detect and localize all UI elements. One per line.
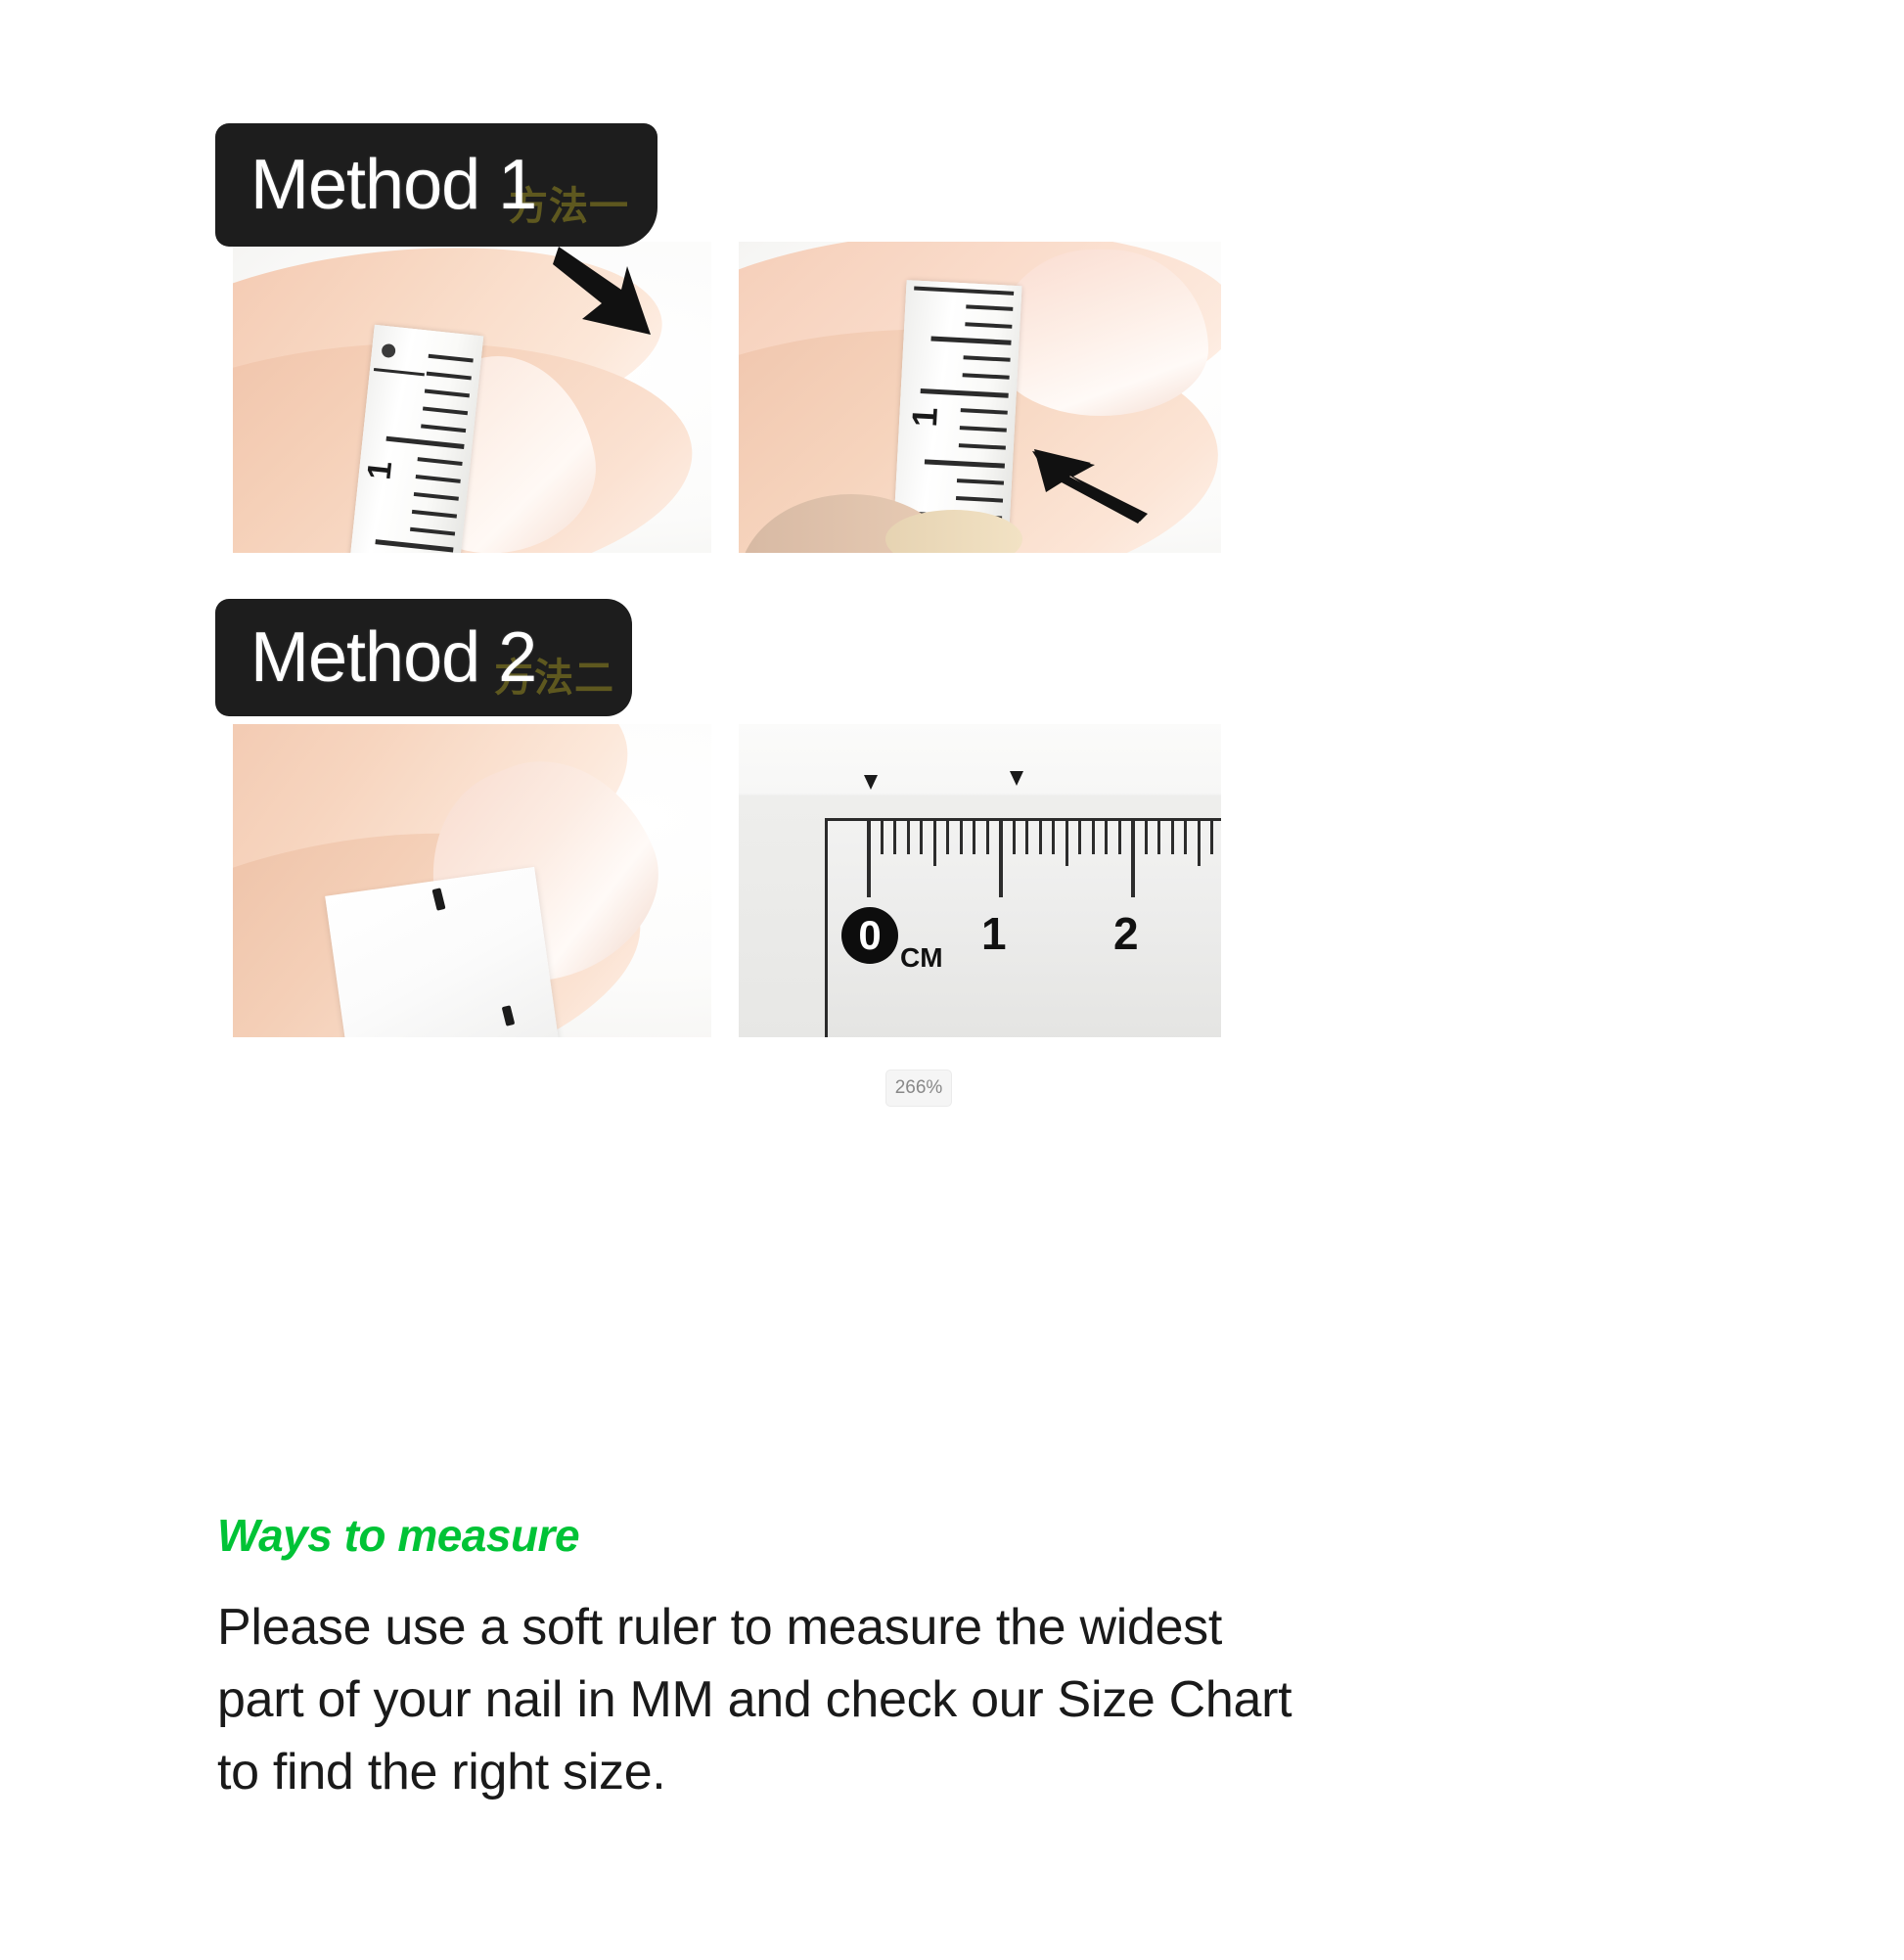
ruler-notch-right <box>1010 771 1023 786</box>
section-heading: Ways to measure <box>217 1509 579 1562</box>
paper-strip <box>325 867 560 1037</box>
ruler-tick <box>960 821 963 854</box>
measuring-tape: 1 <box>350 325 483 553</box>
ruler-tick <box>933 821 936 866</box>
ruler-tick <box>1025 821 1028 854</box>
page-root: 1 1 2 <box>0 0 1904 1960</box>
ruler-unit-label: CM <box>900 942 943 974</box>
ruler-body: 0 CM 1 2 3 <box>825 818 1221 1037</box>
ruler-tick <box>881 821 884 854</box>
ruler-tick <box>1052 821 1055 854</box>
ruler-tick <box>1078 821 1081 854</box>
ruler-tick <box>920 821 923 854</box>
ruler-tick <box>893 821 896 854</box>
ruler-tick <box>907 821 910 854</box>
ruler-tick <box>1171 821 1174 854</box>
method-2-image-1 <box>233 724 711 1037</box>
method-2-label: Method 2 <box>250 622 536 693</box>
method-2-badge: 方法二 Method 2 <box>215 599 632 716</box>
ruler-tick <box>1118 821 1121 854</box>
ruler-notch-left <box>864 775 878 790</box>
zoom-level-value: 266% <box>895 1077 943 1099</box>
tape-digit-1: 1 <box>360 459 400 481</box>
ruler-zero-badge: 0 <box>841 907 898 964</box>
ruler-tick <box>1039 821 1042 854</box>
method-1-image-1: 1 <box>233 242 711 553</box>
ruler-tick <box>1065 821 1068 866</box>
tape-digit-1: 1 <box>904 406 946 428</box>
ruler-tick <box>999 821 1003 897</box>
ruler-tick <box>1184 821 1187 854</box>
method-1-label: Method 1 <box>250 150 536 220</box>
ruler-tick <box>1210 821 1213 854</box>
ruler-tick <box>973 821 975 854</box>
ruler-tick <box>946 821 949 854</box>
zoom-level-badge[interactable]: 266% <box>885 1070 952 1107</box>
ruler-tick <box>986 821 989 854</box>
method-1-image-2: 1 2 <box>739 242 1221 553</box>
ruler-number-1: 1 <box>981 911 1007 956</box>
ruler-tick <box>1157 821 1160 854</box>
ruler-tick <box>1145 821 1148 854</box>
ruler-tick <box>1092 821 1095 854</box>
ruler-tick <box>1013 821 1016 854</box>
method-1-badge: 方法一 Method 1 <box>215 123 657 247</box>
ruler-tick <box>867 821 871 897</box>
ruler-tick <box>1131 821 1135 897</box>
ruler-tick <box>1198 821 1201 866</box>
section-paragraph: Please use a soft ruler to measure the w… <box>217 1592 1298 1808</box>
ruler-tick <box>1105 821 1108 854</box>
method-2-image-2: 0 CM 1 2 3 <box>739 724 1221 1037</box>
ruler-number-2: 2 <box>1113 911 1139 956</box>
